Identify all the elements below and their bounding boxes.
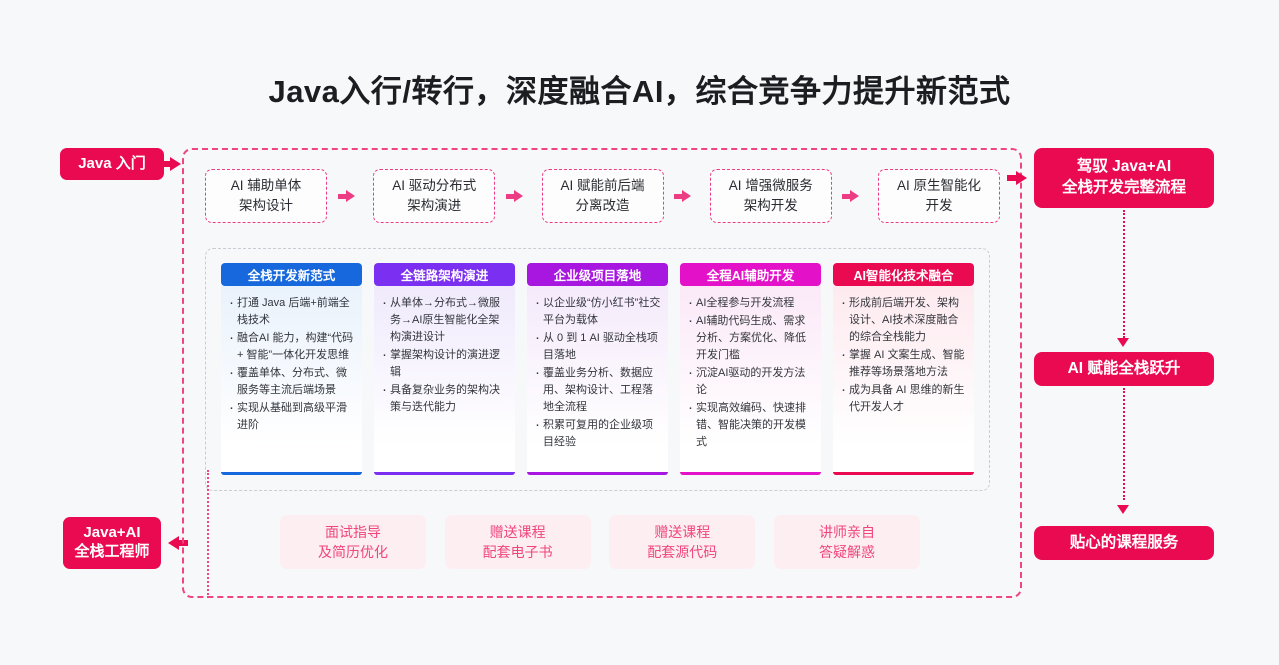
flow-step-2-line1: AI 驱动分布式 bbox=[392, 176, 476, 196]
flow-step-4-line2: 架构开发 bbox=[744, 196, 798, 216]
feature-card-1-body: 打通 Java 后端+前端全栈技术 融合AI 能力，构建“代码 + 智能”一体化… bbox=[221, 286, 362, 475]
arrow-entry-to-flow-icon bbox=[170, 157, 181, 171]
outcome-box-2: AI 赋能全栈跃升 bbox=[1034, 352, 1214, 386]
arrow-flow-to-outcome-icon bbox=[1016, 171, 1027, 185]
outcome-box-3: 贴心的课程服务 bbox=[1034, 526, 1214, 560]
flow-step-2: AI 驱动分布式 架构演进 bbox=[373, 169, 495, 223]
outcome-box-1-line2: 全栈开发完整流程 bbox=[1062, 178, 1186, 199]
flow-step-4: AI 增强微服务 架构开发 bbox=[710, 169, 832, 223]
feature-card-1-header: 全栈开发新范式 bbox=[221, 263, 362, 286]
flow-arrow-4-icon bbox=[850, 190, 859, 202]
infographic-page: Java入行/转行，深度融合AI，综合竞争力提升新范式 Java 入门 Java… bbox=[0, 0, 1279, 665]
feature-card-1-list: 打通 Java 后端+前端全栈技术 融合AI 能力，构建“代码 + 智能”一体化… bbox=[228, 295, 355, 434]
flow-step-5-line1: AI 原生智能化 bbox=[897, 176, 981, 196]
outcome-box-1-line1: 驾驭 Java+AI bbox=[1077, 157, 1171, 178]
outcome-box-3-line1: 贴心的课程服务 bbox=[1070, 533, 1179, 554]
service-box-1-line2: 及简历优化 bbox=[318, 542, 388, 562]
feature-card-5: AI智能化技术融合 形成前后端开发、架构设计、AI技术深度融合的综合全栈能力 掌… bbox=[833, 263, 974, 475]
list-item: 实现从基础到高级平滑进阶 bbox=[228, 400, 355, 434]
list-item: 覆盖业务分析、数据应用、架构设计、工程落地全流程 bbox=[534, 365, 661, 416]
badge-java-entry-label: Java 入门 bbox=[78, 155, 146, 174]
list-item: 成为具备 AI 思维的新生代开发人才 bbox=[840, 382, 967, 416]
list-item: 以企业级“仿小红书”社交平台为载体 bbox=[534, 295, 661, 329]
badge-engineer-line1: Java+AI bbox=[83, 524, 140, 543]
list-item: 实现高效编码、快速排错、智能决策的开发模式 bbox=[687, 400, 814, 451]
list-item: 具备复杂业务的架构决策与迭代能力 bbox=[381, 382, 508, 416]
badge-java-entry: Java 入门 bbox=[60, 148, 164, 180]
feature-card-3: 企业级项目落地 以企业级“仿小红书”社交平台为载体 从 0 到 1 AI 驱动全… bbox=[527, 263, 668, 475]
flow-step-4-line1: AI 增强微服务 bbox=[729, 176, 813, 196]
page-title: Java入行/转行，深度融合AI，综合竞争力提升新范式 bbox=[0, 66, 1279, 111]
flow-step-1-line1: AI 辅助单体 bbox=[231, 176, 302, 196]
feature-card-5-list: 形成前后端开发、架构设计、AI技术深度融合的综合全栈能力 掌握 AI 文案生成、… bbox=[840, 295, 967, 416]
list-item: 覆盖单体、分布式、微服务等主流后端场景 bbox=[228, 365, 355, 399]
feature-card-2: 全链路架构演进 从单体→分布式→微服务→AI原生智能化全架构演进设计 掌握架构设… bbox=[374, 263, 515, 475]
outcome-box-1: 驾驭 Java+AI 全栈开发完整流程 bbox=[1034, 148, 1214, 208]
feature-card-4-list: AI全程参与开发流程 AI辅助代码生成、需求分析、方案优化、降低开发门槛 沉淀A… bbox=[687, 295, 814, 451]
flow-step-1: AI 辅助单体 架构设计 bbox=[205, 169, 327, 223]
list-item: 从 0 到 1 AI 驱动全栈项目落地 bbox=[534, 330, 661, 364]
service-box-4-line2: 答疑解惑 bbox=[819, 542, 875, 562]
flow-step-3-line2: 分离改造 bbox=[576, 196, 630, 216]
list-item: 融合AI 能力，构建“代码 + 智能”一体化开发思维 bbox=[228, 330, 355, 364]
list-item: 打通 Java 后端+前端全栈技术 bbox=[228, 295, 355, 329]
arrow-down-2-icon bbox=[1117, 505, 1129, 514]
feature-card-3-header: 企业级项目落地 bbox=[527, 263, 668, 286]
list-item: 沉淀AI驱动的开发方法论 bbox=[687, 365, 814, 399]
connector-dotted-1 bbox=[1123, 210, 1125, 338]
arrow-to-engineer-icon bbox=[168, 536, 179, 550]
feature-card-2-body: 从单体→分布式→微服务→AI原生智能化全架构演进设计 掌握架构设计的演进逻辑 具… bbox=[374, 286, 515, 475]
service-box-4-line1: 讲师亲自 bbox=[819, 522, 875, 542]
service-box-2-line2: 配套电子书 bbox=[483, 542, 553, 562]
feature-card-4-header: 全程AI辅助开发 bbox=[680, 263, 821, 286]
feature-card-2-header: 全链路架构演进 bbox=[374, 263, 515, 286]
feature-card-2-list: 从单体→分布式→微服务→AI原生智能化全架构演进设计 掌握架构设计的演进逻辑 具… bbox=[381, 295, 508, 416]
connector-dotted-2 bbox=[1123, 388, 1125, 500]
arrow-down-1-icon bbox=[1117, 338, 1129, 347]
service-box-1: 面试指导 及简历优化 bbox=[280, 515, 426, 569]
flow-step-5: AI 原生智能化 开发 bbox=[878, 169, 1000, 223]
flow-steps-row: AI 辅助单体 架构设计 AI 驱动分布式 架构演进 AI 赋能前后端 分离改造… bbox=[205, 168, 1000, 224]
list-item: 从单体→分布式→微服务→AI原生智能化全架构演进设计 bbox=[381, 295, 508, 346]
flow-step-3-line1: AI 赋能前后端 bbox=[560, 176, 644, 196]
service-box-2-line1: 赠送课程 bbox=[490, 522, 546, 542]
list-item: AI全程参与开发流程 bbox=[687, 295, 814, 312]
flow-step-2-line2: 架构演进 bbox=[407, 196, 461, 216]
badge-java-ai-engineer: Java+AI 全栈工程师 bbox=[63, 517, 161, 569]
feature-card-3-list: 以企业级“仿小红书”社交平台为载体 从 0 到 1 AI 驱动全栈项目落地 覆盖… bbox=[534, 295, 661, 451]
service-box-4: 讲师亲自 答疑解惑 bbox=[774, 515, 920, 569]
service-box-2: 赠送课程 配套电子书 bbox=[445, 515, 591, 569]
flow-arrow-1-icon bbox=[346, 190, 355, 202]
list-item: 掌握架构设计的演进逻辑 bbox=[381, 347, 508, 381]
flow-step-1-line2: 架构设计 bbox=[239, 196, 293, 216]
service-boxes: 面试指导 及简历优化 赠送课程 配套电子书 赠送课程 配套源代码 讲师亲自 答疑… bbox=[280, 515, 920, 569]
list-item: 积累可复用的企业级项目经验 bbox=[534, 417, 661, 451]
list-item: 掌握 AI 文案生成、智能推荐等场景落地方法 bbox=[840, 347, 967, 381]
feature-cards: 全栈开发新范式 打通 Java 后端+前端全栈技术 融合AI 能力，构建“代码 … bbox=[221, 263, 974, 475]
feature-card-3-body: 以企业级“仿小红书”社交平台为载体 从 0 到 1 AI 驱动全栈项目落地 覆盖… bbox=[527, 286, 668, 475]
flow-step-3: AI 赋能前后端 分离改造 bbox=[542, 169, 664, 223]
feature-card-1: 全栈开发新范式 打通 Java 后端+前端全栈技术 融合AI 能力，构建“代码 … bbox=[221, 263, 362, 475]
flow-arrow-3-icon bbox=[682, 190, 691, 202]
service-box-1-line1: 面试指导 bbox=[325, 522, 381, 542]
feature-card-5-body: 形成前后端开发、架构设计、AI技术深度融合的综合全栈能力 掌握 AI 文案生成、… bbox=[833, 286, 974, 475]
flow-step-5-line2: 开发 bbox=[926, 196, 953, 216]
feature-card-4-body: AI全程参与开发流程 AI辅助代码生成、需求分析、方案优化、降低开发门槛 沉淀A… bbox=[680, 286, 821, 475]
list-item: 形成前后端开发、架构设计、AI技术深度融合的综合全栈能力 bbox=[840, 295, 967, 346]
feature-card-4: 全程AI辅助开发 AI全程参与开发流程 AI辅助代码生成、需求分析、方案优化、降… bbox=[680, 263, 821, 475]
feature-card-5-header: AI智能化技术融合 bbox=[833, 263, 974, 286]
service-box-3-line2: 配套源代码 bbox=[647, 542, 717, 562]
flow-arrow-2-icon bbox=[514, 190, 523, 202]
list-item: AI辅助代码生成、需求分析、方案优化、降低开发门槛 bbox=[687, 313, 814, 364]
outcome-box-2-line1: AI 赋能全栈跃升 bbox=[1068, 359, 1181, 380]
service-box-3-line1: 赠送课程 bbox=[654, 522, 710, 542]
badge-engineer-line2: 全栈工程师 bbox=[74, 543, 149, 562]
service-box-3: 赠送课程 配套源代码 bbox=[609, 515, 755, 569]
